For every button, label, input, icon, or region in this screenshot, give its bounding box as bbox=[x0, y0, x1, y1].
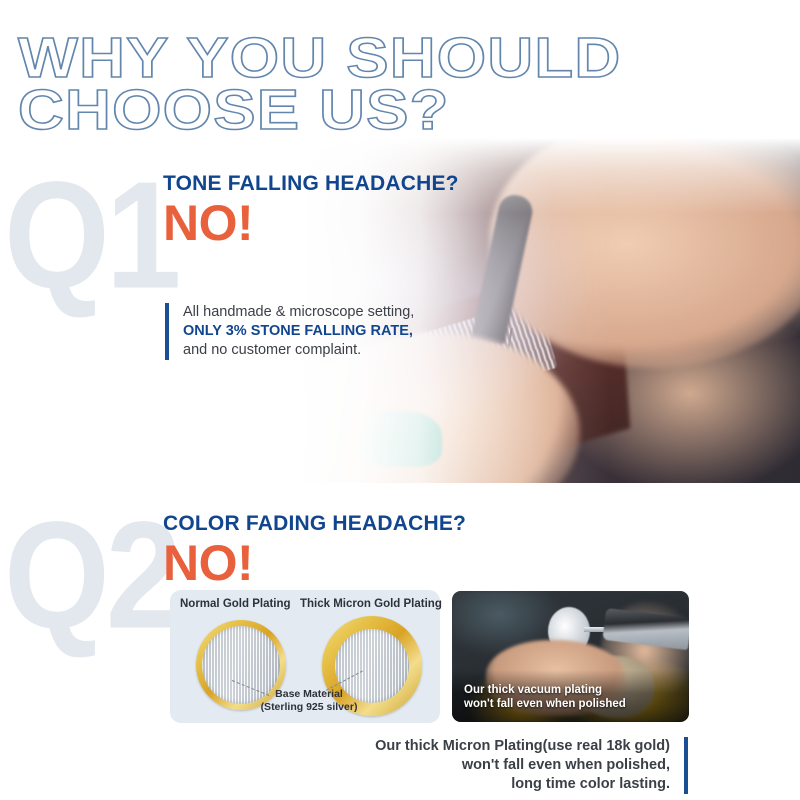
plating-comparison-panel: Normal Gold Plating Thick Micron Gold Pl… bbox=[170, 590, 440, 723]
headline-line-1: WHY YOU SHOULD bbox=[18, 34, 800, 84]
photo-q2-caption-line-1: Our thick vacuum plating bbox=[464, 683, 626, 697]
q1-quote-line-3: and no customer complaint. bbox=[183, 341, 414, 360]
q2-heading: COLOR FADING HEADACHE? bbox=[163, 512, 466, 536]
base-material-caption-line-1: Base Material bbox=[244, 688, 374, 701]
bottom-note-line-1: Our thick Micron Plating(use real 18k go… bbox=[375, 737, 670, 756]
bottom-note-line-3: long time color lasting. bbox=[375, 775, 670, 794]
photo-q2-caption: Our thick vacuum plating won't fall even… bbox=[464, 683, 626, 711]
bottom-note-line-2: won't fall even when polished, bbox=[375, 756, 670, 775]
q1-quote-line-1: All handmade & microscope setting, bbox=[183, 303, 414, 322]
q1-quote-line-2: ONLY 3% STONE FALLING RATE, bbox=[183, 322, 414, 341]
q1-heading: TONE FALLING HEADACHE? bbox=[163, 172, 459, 196]
q1-answer: NO! bbox=[163, 198, 253, 248]
watermark-q1: Q1 bbox=[4, 162, 177, 308]
bottom-note-block: Our thick Micron Plating(use real 18k go… bbox=[375, 737, 688, 794]
base-material-caption-line-2: (Sterling 925 silver) bbox=[244, 701, 374, 714]
photo-ring-polishing: Our thick vacuum plating won't fall even… bbox=[452, 591, 689, 722]
watermark-q2: Q2 bbox=[4, 502, 177, 648]
infographic-page: WHY YOU SHOULD CHOOSE US? Q1 TONE FALLIN… bbox=[0, 0, 800, 800]
panel-label-normal: Normal Gold Plating bbox=[180, 598, 291, 610]
page-title: WHY YOU SHOULD CHOOSE US? bbox=[18, 34, 718, 132]
headline-line-2: CHOOSE US? bbox=[18, 86, 800, 136]
photo-q2-caption-line-2: won't fall even when polished bbox=[464, 697, 626, 711]
panel-label-thick: Thick Micron Gold Plating bbox=[300, 598, 442, 610]
base-material-caption: Base Material (Sterling 925 silver) bbox=[244, 688, 374, 713]
q2-answer: NO! bbox=[163, 538, 253, 588]
q1-quote-block: All handmade & microscope setting, ONLY … bbox=[165, 303, 414, 360]
